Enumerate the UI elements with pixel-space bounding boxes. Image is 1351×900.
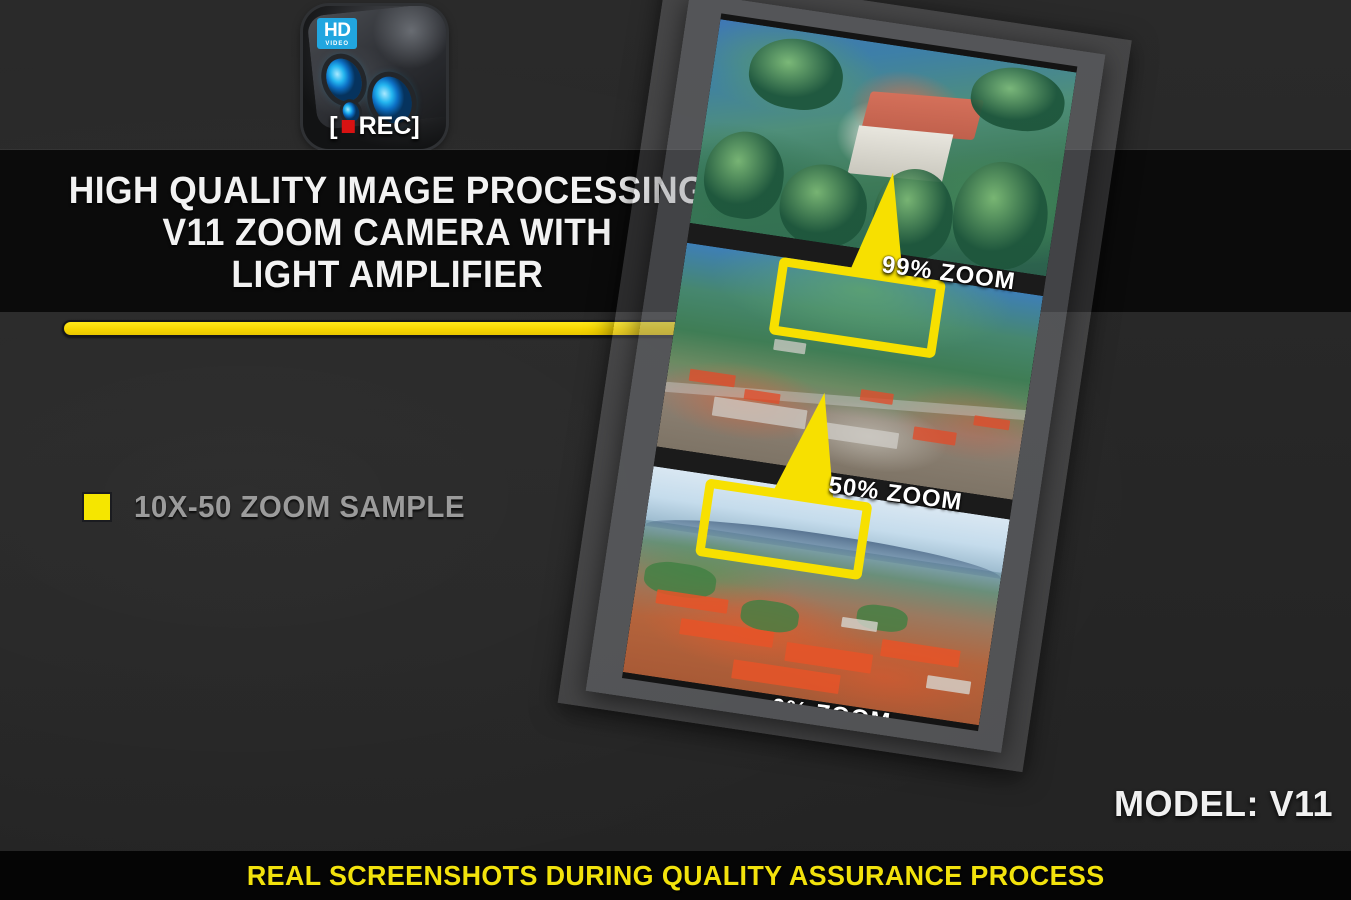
app-icon[interactable]: HD VIDEO [ REC]: [303, 6, 446, 149]
rec-badge: [ REC]: [329, 112, 419, 141]
building-block: [926, 676, 971, 695]
hd-badge: HD VIDEO: [317, 18, 357, 49]
yellow-rule-divider: [62, 320, 690, 337]
legend-swatch-icon: [82, 492, 112, 522]
hd-badge-sub-text: VIDEO: [324, 41, 350, 47]
bottom-banner: REAL SCREENSHOTS DURING QUALITY ASSURANC…: [0, 851, 1351, 900]
zoom-sample-sheet: 99% ZOOM 50% ZOOM 0% ZOOM: [553, 0, 1221, 815]
rec-dot-icon: [342, 120, 355, 133]
legend: 10X-50 ZOOM SAMPLE: [82, 489, 482, 525]
bottom-banner-text: REAL SCREENSHOTS DURING QUALITY ASSURANC…: [247, 860, 1105, 892]
building-block: [818, 421, 899, 449]
legend-label: 10X-50 ZOOM SAMPLE: [134, 489, 465, 525]
tree-cluster: [699, 126, 790, 223]
rec-badge-text: REC]: [359, 112, 420, 141]
tree-cluster: [946, 155, 1054, 275]
rooftop-block: [912, 427, 957, 446]
model-label: MODEL: V11: [1114, 783, 1333, 825]
tree-cluster: [967, 62, 1069, 137]
building-block: [773, 339, 807, 354]
rooftop-block: [880, 639, 961, 667]
poster-canvas: HD VIDEO [ REC] HIGH QUALITY IMAGE PROCE…: [0, 0, 1351, 900]
tree-cluster: [744, 33, 847, 116]
rec-bracket-left: [: [329, 112, 337, 141]
hd-badge-main-text: HD: [324, 21, 350, 40]
